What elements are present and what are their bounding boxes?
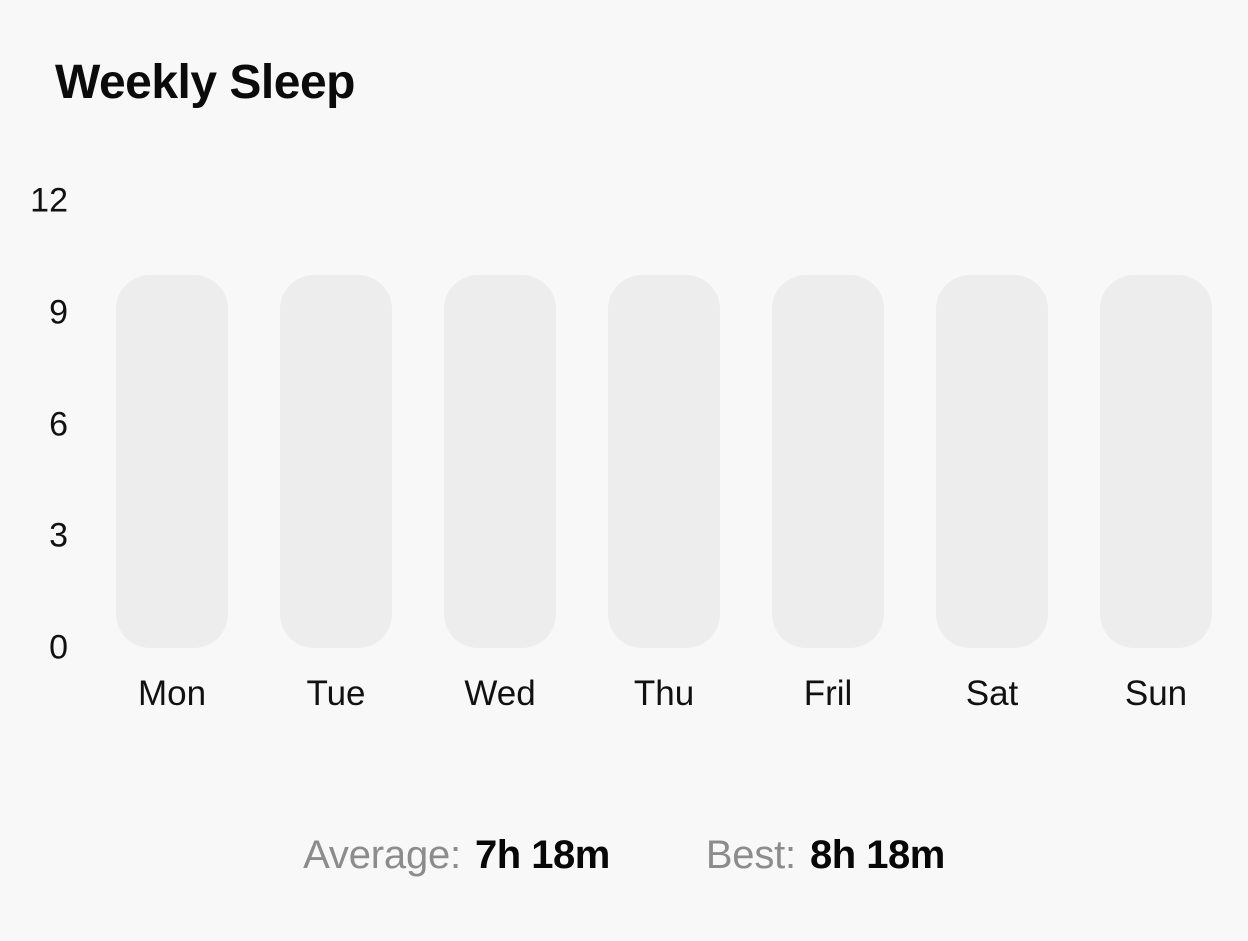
x-axis-label: Sun bbox=[1074, 674, 1238, 714]
stat-label: Best: bbox=[706, 833, 796, 878]
stat-value: 7h 18m bbox=[475, 833, 610, 878]
bar-column[interactable]: Thu bbox=[608, 0, 720, 941]
y-axis-tick: 12 bbox=[30, 182, 68, 221]
y-axis-tick: 3 bbox=[49, 517, 68, 556]
bar-track bbox=[444, 275, 556, 648]
bar-track bbox=[1100, 275, 1212, 648]
y-axis-tick: 0 bbox=[49, 629, 68, 668]
x-axis-label: Thu bbox=[582, 674, 746, 714]
y-axis-tick: 9 bbox=[49, 293, 68, 332]
bar-track bbox=[608, 275, 720, 648]
bar-column[interactable]: Fril bbox=[772, 0, 884, 941]
bar-track bbox=[116, 275, 228, 648]
stat-item: Average:7h 18m bbox=[303, 833, 610, 878]
bar-column[interactable]: Sat bbox=[936, 0, 1048, 941]
weekly-sleep-card: Weekly Sleep 129630 MonTueWedThuFrilSatS… bbox=[0, 0, 1248, 941]
y-axis-tick: 6 bbox=[49, 405, 68, 444]
x-axis-label: Sat bbox=[910, 674, 1074, 714]
stat-label: Average: bbox=[303, 833, 461, 878]
stat-item: Best:8h 18m bbox=[706, 833, 945, 878]
stat-value: 8h 18m bbox=[810, 833, 945, 878]
bar-chart: 129630 MonTueWedThuFrilSatSun bbox=[0, 0, 1248, 941]
bar-column[interactable]: Sun bbox=[1100, 0, 1212, 941]
x-axis-label: Fril bbox=[746, 674, 910, 714]
x-axis-label: Tue bbox=[254, 674, 418, 714]
summary-stats: Average:7h 18mBest:8h 18m bbox=[0, 833, 1248, 878]
bar-column[interactable]: Wed bbox=[444, 0, 556, 941]
bar-column[interactable]: Mon bbox=[116, 0, 228, 941]
y-axis: 129630 bbox=[0, 0, 110, 941]
bar-track bbox=[280, 275, 392, 648]
x-axis-label: Wed bbox=[418, 674, 582, 714]
bar-group: MonTueWedThuFrilSatSun bbox=[116, 0, 1210, 941]
bar-track bbox=[936, 275, 1048, 648]
x-axis-label: Mon bbox=[90, 674, 254, 714]
bar-track bbox=[772, 275, 884, 648]
bar-column[interactable]: Tue bbox=[280, 0, 392, 941]
